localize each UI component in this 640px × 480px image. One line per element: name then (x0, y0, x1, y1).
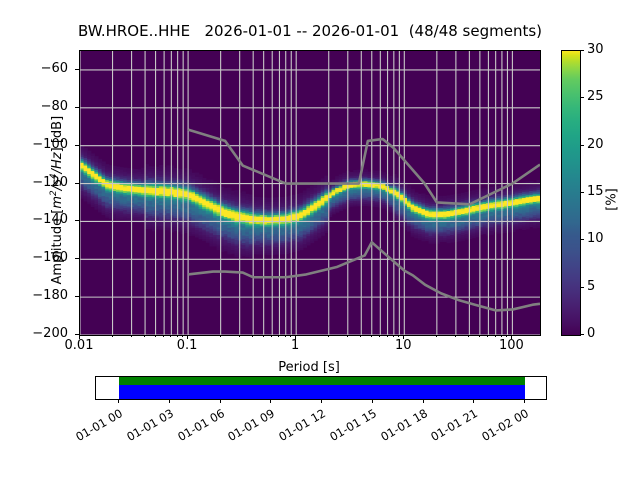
timeline-data-bar (119, 377, 525, 385)
colorbar-tick-mark (580, 192, 584, 193)
timeline-tick-label: 01-01 18 (369, 406, 430, 449)
x-axis-tick-label: 0.1 (152, 338, 222, 353)
x-axis-minor-tick-mark (252, 335, 253, 337)
colorbar-tick-mark (580, 97, 584, 98)
timeline-tick-mark (118, 399, 119, 403)
x-axis-minor-tick-mark (112, 335, 113, 337)
colorbar-tick-label: 15 (587, 185, 604, 198)
x-axis-minor-tick-mark (347, 335, 348, 337)
ppsd-density-canvas (80, 51, 540, 335)
timeline-tick-label: 01-01 21 (420, 406, 481, 449)
x-axis-tick-mark (403, 335, 404, 339)
y-axis-tick-mark (75, 220, 79, 221)
x-axis-minor-tick-mark (398, 335, 399, 337)
x-axis-minor-tick-mark (177, 335, 178, 337)
x-axis-minor-tick-mark (393, 335, 394, 337)
x-axis-label: Period [s] (79, 360, 539, 375)
timeline-plot-area[interactable] (95, 376, 547, 400)
y-axis-label: Amplitude [m2/s4/Hz] [dB] (49, 50, 65, 350)
colorbar-tick-label: 0 (587, 327, 595, 340)
timeline-tick-mark (321, 399, 322, 403)
timeline-tick-label: 01-01 00 (64, 406, 125, 449)
colorbar-tick-label: 5 (587, 280, 595, 293)
page-title: BW.HROE..HHE 2026-01-01 -- 2026-01-01 (4… (0, 22, 620, 40)
x-axis-minor-tick-mark (163, 335, 164, 337)
y-axis-tick-mark (75, 107, 79, 108)
x-axis-minor-tick-mark (379, 335, 380, 337)
timeline-coverage-bar (119, 385, 525, 399)
x-axis-minor-tick-mark (239, 335, 240, 337)
timeline-tick-mark (524, 399, 525, 403)
x-axis-minor-tick-mark (271, 335, 272, 337)
x-axis-minor-tick-mark (360, 335, 361, 337)
y-axis-tick-mark (75, 145, 79, 146)
timeline-tick-mark (372, 399, 373, 403)
timeline-tick-mark (270, 399, 271, 403)
x-axis-minor-tick-mark (455, 335, 456, 337)
y-axis-tick-mark (75, 258, 79, 259)
x-axis-minor-tick-mark (285, 335, 286, 337)
x-axis-tick-label: 100 (476, 338, 546, 353)
colorbar-tick-label: 30 (587, 43, 604, 56)
x-axis-minor-tick-mark (290, 335, 291, 337)
ppsd-plot-area[interactable] (79, 50, 541, 336)
x-axis-minor-tick-mark (506, 335, 507, 337)
x-axis-minor-tick-mark (436, 335, 437, 337)
colorbar-tick-mark (580, 50, 584, 51)
colorbar-label: [%] (605, 160, 620, 240)
x-axis-minor-tick-mark (131, 335, 132, 337)
y-axis-tick-mark (75, 183, 79, 184)
timeline-tick-mark (169, 399, 170, 403)
timeline-tick-label: 01-01 12 (267, 406, 328, 449)
colorbar-tick-mark (580, 334, 584, 335)
timeline-tick-label: 01-01 03 (115, 406, 176, 449)
x-axis-minor-tick-mark (278, 335, 279, 337)
y-axis-tick-mark (75, 296, 79, 297)
x-axis-minor-tick-mark (263, 335, 264, 337)
x-axis-minor-tick-mark (144, 335, 145, 337)
colorbar-tick-label: 25 (587, 90, 604, 103)
x-axis-tick-mark (79, 335, 80, 339)
colorbar-tick-mark (580, 287, 584, 288)
y-axis-tick-mark (75, 69, 79, 70)
colorbar-tick-label: 20 (587, 138, 604, 151)
x-axis-minor-tick-mark (387, 335, 388, 337)
x-axis-minor-tick-mark (501, 335, 502, 337)
ppsd-figure: BW.HROE..HHE 2026-01-01 -- 2026-01-01 (4… (0, 0, 640, 480)
x-axis-tick-label: 0.01 (44, 338, 114, 353)
x-axis-tick-label: 10 (368, 338, 438, 353)
timeline-tick-label: 01-01 09 (217, 406, 278, 449)
x-axis-minor-tick-mark (371, 335, 372, 337)
x-axis-minor-tick-mark (170, 335, 171, 337)
colorbar-tick-mark (580, 239, 584, 240)
y-axis-label-text: Amplitude [ (50, 209, 65, 285)
x-axis-minor-tick-mark (479, 335, 480, 337)
x-axis-minor-tick-mark (468, 335, 469, 337)
x-axis-tick-mark (295, 335, 296, 339)
timeline-tick-label: 01-01 06 (166, 406, 227, 449)
x-axis-minor-tick-mark (220, 335, 221, 337)
x-axis-minor-tick-mark (155, 335, 156, 337)
x-axis-minor-tick-mark (487, 335, 488, 337)
x-axis-tick-mark (187, 335, 188, 339)
timeline-tick-mark (423, 399, 424, 403)
x-axis-tick-mark (511, 335, 512, 339)
colorbar-tick-label: 10 (587, 232, 604, 245)
timeline-tick-mark (220, 399, 221, 403)
x-axis-tick-label: 1 (260, 338, 330, 353)
colorbar[interactable] (561, 50, 581, 336)
timeline-tick-label: 01-02 00 (470, 406, 531, 449)
x-axis-minor-tick-mark (328, 335, 329, 337)
x-axis-minor-tick-mark (182, 335, 183, 337)
x-axis-minor-tick-mark (495, 335, 496, 337)
timeline-tick-mark (473, 399, 474, 403)
colorbar-tick-mark (580, 145, 584, 146)
timeline-tick-label: 01-01 15 (318, 406, 379, 449)
